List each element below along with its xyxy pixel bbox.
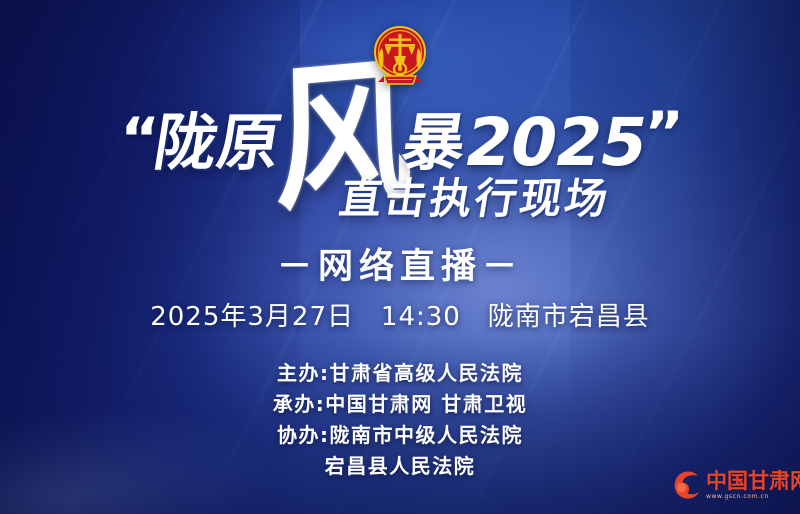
credit-line-coorganizer: 协办:陇南市中级人民法院 (0, 420, 800, 451)
emblem-container (0, 22, 800, 94)
headline-block: “ 陇原 风 暴 2025 ” 直击执行现场 (0, 100, 800, 240)
schedule-row: 2025年3月27日 14:30 陇南市宕昌县 (0, 296, 800, 333)
live-broadcast-label: －网络直播－ (277, 246, 523, 287)
livestream-poster: “ 陇原 风 暴 2025 ” 直击执行现场 －网络直播－ 2025年3月27日… (0, 0, 800, 514)
closing-quote-mark: ” (645, 104, 681, 162)
headline-part-one: 陇原 (150, 112, 286, 174)
site-logo-url: www.gscn.com.cn (706, 494, 800, 500)
headline-subtitle: 直击执行现场 (337, 178, 614, 220)
site-logo[interactable]: 中国甘肃网 www.gscn.com.cn (670, 464, 792, 506)
china-court-emblem-icon (368, 22, 432, 94)
site-logo-text-group: 中国甘肃网 www.gscn.com.cn (706, 471, 800, 500)
schedule-time: 14:30 (381, 302, 461, 332)
headline-part-two: 暴 (398, 112, 471, 174)
gansu-net-swoosh-icon (670, 468, 704, 502)
live-broadcast-label-row: －网络直播－ (0, 238, 800, 289)
headline-year: 2025 (459, 110, 652, 176)
site-logo-name: 中国甘肃网 (706, 471, 800, 492)
opening-quote-mark: “ (120, 110, 156, 168)
schedule-location: 陇南市宕昌县 (488, 302, 650, 332)
schedule-date: 2025年3月27日 (150, 302, 354, 332)
credit-line-organizer: 承办:中国甘肃网 甘肃卫视 (0, 389, 800, 420)
credit-line-host: 主办:甘肃省高级人民法院 (0, 358, 800, 389)
